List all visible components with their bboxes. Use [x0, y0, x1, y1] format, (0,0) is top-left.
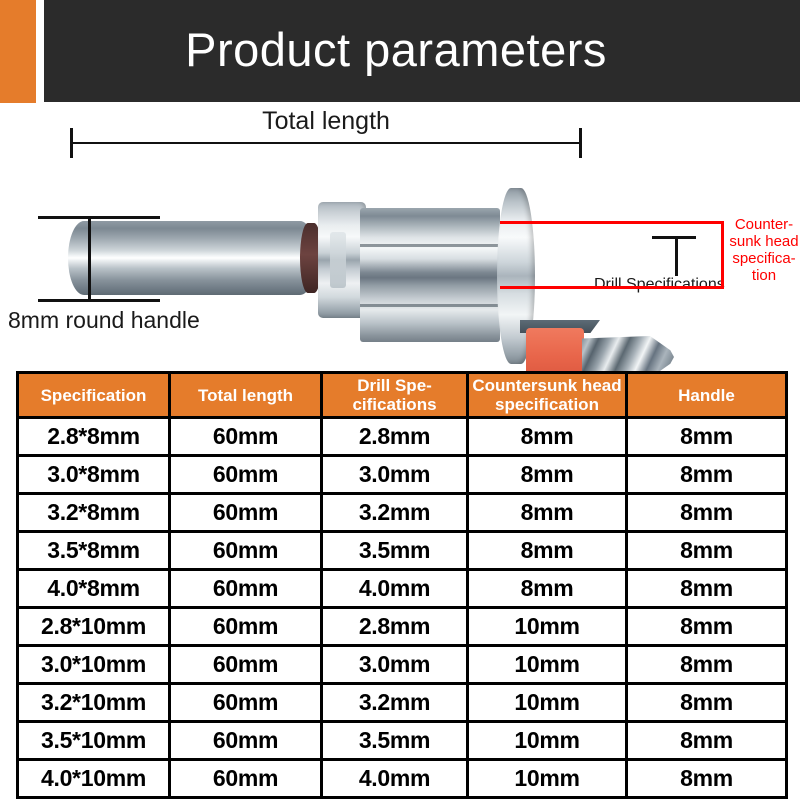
hex-facet	[330, 232, 346, 288]
column-header-total-length-line1: Total length	[172, 386, 319, 405]
column-header-specification-line1: Specification	[20, 386, 167, 405]
column-header-drill-specifications: Drill Spe- cifications	[322, 373, 468, 418]
cell-drill: 2.8mm	[322, 608, 468, 646]
header-accent-bar	[0, 0, 36, 103]
product-parameters-page: Product parameters Total length 8mm	[0, 0, 800, 800]
cell-specification: 3.5*10mm	[18, 722, 170, 760]
cell-drill: 3.0mm	[322, 646, 468, 684]
handle-caliper-bottom	[38, 299, 160, 302]
cell-specification: 4.0*10mm	[18, 760, 170, 798]
cell-total-length: 60mm	[170, 684, 322, 722]
round-shank	[68, 221, 316, 295]
column-header-handle-line1: Handle	[629, 386, 784, 405]
cell-handle: 8mm	[627, 646, 787, 684]
countersunk-bracket-vertical	[721, 221, 724, 289]
cell-handle: 8mm	[627, 760, 787, 798]
table-row: 3.5*8mm60mm3.5mm8mm8mm	[18, 532, 787, 570]
specification-table-wrap: Specification Total length Drill Spe- ci…	[16, 371, 785, 799]
column-header-drill-line2: cifications	[324, 395, 465, 414]
drill-caliper-top	[652, 236, 696, 239]
cell-handle: 8mm	[627, 456, 787, 494]
countersunk-bracket-top	[500, 221, 724, 224]
table-header-row: Specification Total length Drill Spe- ci…	[18, 373, 787, 418]
column-header-specification: Specification	[18, 373, 170, 418]
column-header-countersunk-head: Countersunk head specification	[468, 373, 627, 418]
column-header-drill-line1: Drill Spe-	[324, 376, 465, 395]
cell-countersunk: 10mm	[468, 760, 627, 798]
cell-handle: 8mm	[627, 722, 787, 760]
drill-specifications-label: Drill Specifications	[592, 276, 727, 294]
cell-countersunk: 10mm	[468, 608, 627, 646]
cell-handle: 8mm	[627, 570, 787, 608]
cell-specification: 3.2*8mm	[18, 494, 170, 532]
cell-drill: 3.5mm	[322, 532, 468, 570]
page-title: Product parameters	[185, 26, 607, 73]
body-ring-lower	[360, 304, 500, 307]
total-length-caliper-bar	[70, 142, 582, 144]
total-length-tick-right	[579, 128, 582, 158]
cell-total-length: 60mm	[170, 608, 322, 646]
cell-specification: 3.0*10mm	[18, 646, 170, 684]
cell-handle: 8mm	[627, 608, 787, 646]
cell-handle: 8mm	[627, 532, 787, 570]
countersunk-label-line-1: Counter-	[728, 216, 800, 233]
table-row: 2.8*8mm60mm2.8mm8mm8mm	[18, 418, 787, 456]
countersunk-label-line-4: tion	[728, 267, 800, 284]
column-header-total-length: Total length	[170, 373, 322, 418]
cell-specification: 4.0*8mm	[18, 570, 170, 608]
table-row: 4.0*8mm60mm4.0mm8mm8mm	[18, 570, 787, 608]
cell-total-length: 60mm	[170, 570, 322, 608]
handle-label: 8mm round handle	[8, 307, 200, 334]
cell-total-length: 60mm	[170, 494, 322, 532]
cell-total-length: 60mm	[170, 646, 322, 684]
cell-handle: 8mm	[627, 684, 787, 722]
cell-countersunk: 10mm	[468, 722, 627, 760]
countersunk-label-line-3: specifica-	[728, 250, 800, 267]
countersunk-head-label: Counter- sunk head specifica- tion	[728, 216, 800, 284]
table-row: 3.0*8mm60mm3.0mm8mm8mm	[18, 456, 787, 494]
header-banner-bg: Product parameters	[44, 0, 800, 102]
total-length-label: Total length	[70, 109, 582, 134]
cell-drill: 3.2mm	[322, 684, 468, 722]
table-row: 3.2*10mm60mm3.2mm10mm8mm	[18, 684, 787, 722]
cell-handle: 8mm	[627, 494, 787, 532]
handle-caliper-top	[38, 216, 160, 219]
cell-total-length: 60mm	[170, 456, 322, 494]
cell-drill: 2.8mm	[322, 418, 468, 456]
column-header-countersunk-line1: Countersunk head	[470, 376, 624, 395]
cell-drill: 4.0mm	[322, 760, 468, 798]
cylinder-body	[360, 208, 500, 342]
handle-caliper-stem	[88, 216, 91, 302]
drill-caliper-stem	[675, 236, 678, 279]
specification-table: Specification Total length Drill Spe- ci…	[16, 371, 788, 799]
cell-countersunk: 8mm	[468, 570, 627, 608]
cell-total-length: 60mm	[170, 418, 322, 456]
cell-drill: 3.0mm	[322, 456, 468, 494]
body-ring-upper	[360, 244, 500, 247]
cell-countersunk: 10mm	[468, 684, 627, 722]
header-banner: Product parameters	[0, 0, 800, 104]
table-row: 3.2*8mm60mm3.2mm8mm8mm	[18, 494, 787, 532]
product-diagram: Total length 8mm round handle Drill Spec…	[0, 104, 800, 362]
table-body: 2.8*8mm60mm2.8mm8mm8mm3.0*8mm60mm3.0mm8m…	[18, 418, 787, 798]
cell-countersunk: 8mm	[468, 418, 627, 456]
countersunk-label-line-2: sunk head	[728, 233, 800, 250]
cell-handle: 8mm	[627, 418, 787, 456]
table-row: 3.5*10mm60mm3.5mm10mm8mm	[18, 722, 787, 760]
cell-total-length: 60mm	[170, 760, 322, 798]
total-length-tick-left	[70, 128, 73, 158]
countersunk-bracket-bottom	[500, 286, 724, 289]
cell-drill: 4.0mm	[322, 570, 468, 608]
cell-countersunk: 8mm	[468, 456, 627, 494]
column-header-countersunk-line2: specification	[470, 395, 624, 414]
table-row: 4.0*10mm60mm4.0mm10mm8mm	[18, 760, 787, 798]
cell-total-length: 60mm	[170, 532, 322, 570]
cell-drill: 3.5mm	[322, 722, 468, 760]
column-header-handle: Handle	[627, 373, 787, 418]
cell-specification: 3.0*8mm	[18, 456, 170, 494]
cell-specification: 3.2*10mm	[18, 684, 170, 722]
table-row: 2.8*10mm60mm2.8mm10mm8mm	[18, 608, 787, 646]
cell-countersunk: 8mm	[468, 532, 627, 570]
cell-specification: 2.8*8mm	[18, 418, 170, 456]
cell-countersunk: 8mm	[468, 494, 627, 532]
cell-specification: 3.5*8mm	[18, 532, 170, 570]
cell-drill: 3.2mm	[322, 494, 468, 532]
cell-specification: 2.8*10mm	[18, 608, 170, 646]
cell-total-length: 60mm	[170, 722, 322, 760]
cell-countersunk: 10mm	[468, 646, 627, 684]
table-row: 3.0*10mm60mm3.0mm10mm8mm	[18, 646, 787, 684]
